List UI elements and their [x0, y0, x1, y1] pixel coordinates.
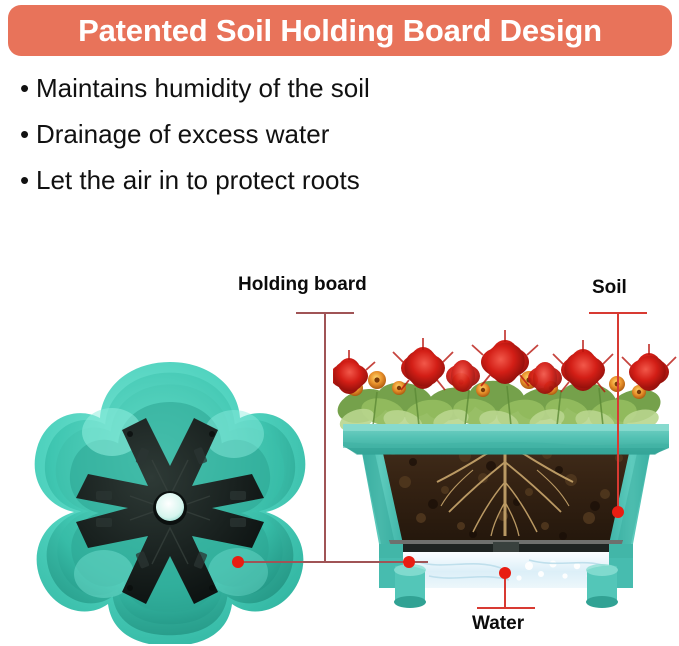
holding-board-leader-run	[238, 561, 428, 563]
holding-board-leader-stem	[324, 312, 326, 562]
callout-label-water: Water	[472, 613, 524, 635]
holding-board-cross-section	[389, 540, 623, 552]
water-leader-cap	[477, 607, 535, 609]
drain-hole	[156, 493, 184, 521]
water-marker	[499, 567, 511, 579]
holding-board-marker-left	[232, 556, 244, 568]
soil-leader-stem	[617, 312, 619, 512]
callout-label-holding-board: Holding board	[238, 274, 367, 296]
top-down-planter-image	[26, 356, 314, 644]
soil-marker	[612, 506, 624, 518]
water-leader-stem	[504, 575, 506, 608]
infographic-page: Patented Soil Holding Board Design • Mai…	[0, 0, 679, 646]
planter-rim	[343, 424, 669, 455]
holding-board-marker-right	[403, 556, 415, 568]
product-diagram: Holding board Soil Water	[0, 0, 679, 646]
callout-label-soil: Soil	[592, 277, 627, 299]
